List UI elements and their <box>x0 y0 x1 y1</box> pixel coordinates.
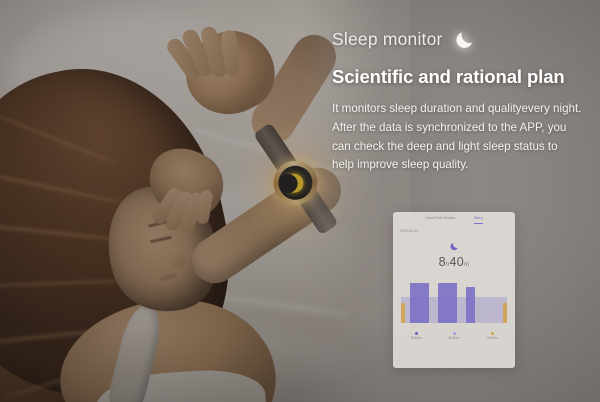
legend-dot-awake <box>491 332 494 335</box>
awake-segment-end <box>503 303 507 323</box>
legend-dot-deep-sleep <box>415 332 418 335</box>
crescent-moon-icon <box>393 241 515 252</box>
sleep-hours: 8 <box>439 255 446 269</box>
card-tab-bar: Heart Rate Monitor Sleep <box>393 212 515 224</box>
legend-item: 0h10m <box>487 332 498 341</box>
total-sleep-time: 8h40m <box>393 255 515 269</box>
legend-label: 5h30m <box>449 337 460 341</box>
crescent-moon-icon <box>453 28 477 52</box>
deep-sleep-bar <box>438 283 457 323</box>
sleep-minutes: 40 <box>450 255 465 269</box>
legend-label: 0h10m <box>487 337 498 341</box>
product-banner: Sleep monitor Scientific and rational pl… <box>0 0 600 402</box>
legend-dot-light-sleep <box>453 332 456 335</box>
tab-heart-rate-monitor[interactable]: Heart Rate Monitor <box>425 217 455 224</box>
headline: Scientific and rational plan <box>332 66 584 88</box>
app-screenshot-card: Heart Rate Monitor Sleep 2019-01-11 8h40… <box>393 212 515 368</box>
chart-legend: 3h10m 5h30m 0h10m <box>393 332 515 341</box>
kicker-label: Sleep monitor <box>332 31 443 49</box>
card-date: 2019-01-11 <box>400 229 515 233</box>
legend-item: 3h10m <box>411 332 422 341</box>
legend-item: 5h30m <box>449 332 460 341</box>
body-paragraph: It monitors sleep duration and qualityev… <box>332 100 582 175</box>
tab-sleep[interactable]: Sleep <box>474 217 483 224</box>
minutes-unit: m <box>464 262 469 268</box>
sleep-stage-chart <box>401 281 507 323</box>
deep-sleep-bar <box>466 287 475 323</box>
deep-sleep-bar <box>410 283 429 323</box>
kicker-row: Sleep monitor <box>332 28 584 52</box>
copy-block: Sleep monitor Scientific and rational pl… <box>332 28 584 175</box>
legend-label: 3h10m <box>411 337 422 341</box>
awake-segment-start <box>401 303 405 323</box>
